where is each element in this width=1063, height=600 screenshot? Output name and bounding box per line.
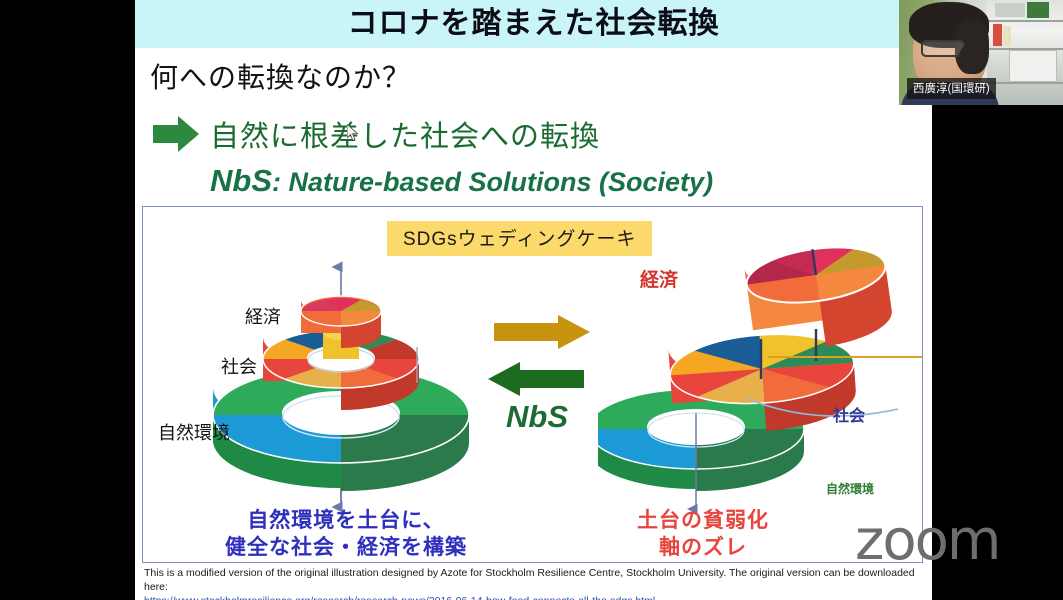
shelf-item [993, 24, 1002, 46]
arrow-right-icon [494, 315, 590, 349]
left-wedding-cake-diagram [171, 255, 511, 515]
zoom-watermark: zoom [855, 508, 999, 573]
right-wedding-cake-diagram: ~ [598, 217, 923, 517]
right-label-society: 社会 [833, 402, 865, 426]
right-label-biosphere: 自然環境 [826, 480, 874, 497]
left-caption: 自然環境を土台に、 健全な社会・経済を構築 [201, 507, 491, 561]
slide-question-text: 何への転換なのか？ [150, 56, 411, 96]
participant-name-label: 西廣淳(国環研) [907, 78, 996, 99]
printer [1009, 50, 1057, 82]
right-caption-line1: 土台の貧弱化 [598, 507, 808, 534]
nbs-abbrev: NbS [210, 163, 272, 198]
right-label-economy: 経済 [640, 265, 678, 292]
credit-sentence: This is a modified version of the origin… [144, 567, 915, 593]
left-caption-line1: 自然環境を土台に、 [201, 507, 491, 534]
webcam-thumbnail[interactable]: 西廣淳(国環研) [899, 0, 1063, 105]
left-label-economy: 経済 [245, 303, 281, 329]
right-arrow-icon [153, 116, 199, 152]
shelf-item [1003, 26, 1011, 46]
left-label-society: 社会 [221, 353, 257, 379]
screen-share-view: コロナを踏まえた社会転換 何への転換なのか？ 自然に根差した社会への転換 NbS… [0, 0, 1063, 600]
right-caption: 土台の貧弱化 軸のズレ [598, 507, 808, 561]
left-label-biosphere: 自然環境 [158, 419, 230, 445]
mouse-cursor [347, 124, 359, 142]
shelf-item [995, 3, 1025, 17]
presentation-slide: コロナを踏まえた社会転換 何への転換なのか？ 自然に根差した社会への転換 NbS… [135, 0, 932, 600]
shelf-item [1027, 2, 1049, 18]
svg-text:~: ~ [646, 412, 653, 426]
nbs-expansion: : Nature-based Solutions (Society) [272, 167, 713, 197]
headset-earpiece [959, 44, 981, 70]
diagram-panel: SDGsウェディングケーキ [142, 206, 923, 563]
nbs-center-label: NbS [506, 399, 568, 435]
nbs-definition-line: NbS: Nature-based Solutions (Society) [210, 163, 713, 199]
slide-answer-text: 自然に根差した社会への転換 [210, 113, 600, 155]
right-caption-line2: 軸のズレ [598, 534, 808, 561]
slide-title-banner: コロナを踏まえた社会転換 [135, 0, 932, 48]
slide-title: コロナを踏まえた社会転換 [135, 2, 932, 46]
credit-url: https://www.stockholmresilience.org/rese… [144, 594, 924, 600]
arrow-left-icon [488, 362, 584, 396]
left-caption-line2: 健全な社会・経済を構築 [201, 534, 491, 561]
credit-text: This is a modified version of the origin… [144, 566, 924, 600]
